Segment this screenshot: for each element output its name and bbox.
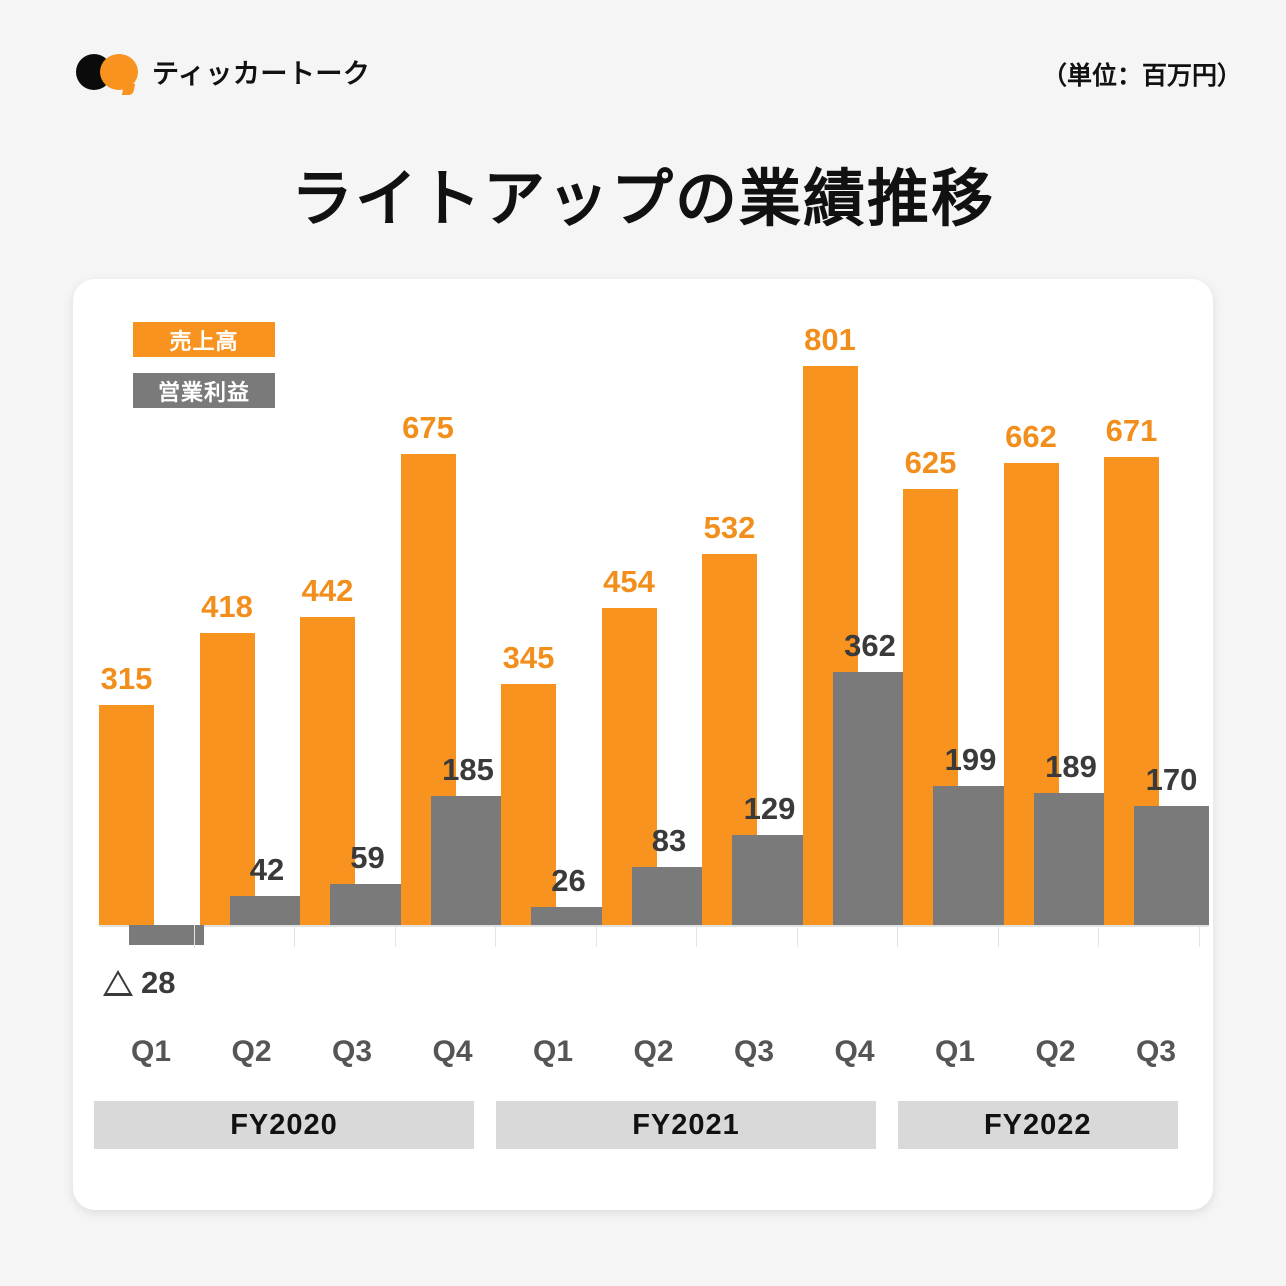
axis-tick — [395, 925, 396, 947]
bar-operating-profit[interactable] — [632, 867, 707, 925]
axis-tick — [194, 925, 195, 947]
page-title: ライトアップの業績推移 — [0, 148, 1286, 238]
value-label-revenue: 454 — [584, 564, 674, 600]
unit-note: （単位：百万円） — [1042, 56, 1242, 92]
quarter-label: Q4 — [403, 1035, 503, 1069]
quarter-label: Q1 — [503, 1035, 603, 1069]
bar-operating-profit[interactable] — [431, 796, 506, 925]
fiscal-year-bands: FY2020FY2021FY2022 — [85, 1101, 1213, 1149]
value-label-revenue: 675 — [383, 410, 473, 446]
axis-tick — [897, 925, 898, 947]
value-label-revenue: 345 — [484, 640, 574, 676]
zero-axis-line — [99, 925, 1209, 927]
axis-tick — [998, 925, 999, 947]
bar-operating-profit[interactable] — [330, 884, 405, 925]
fiscal-year-band: FY2022 — [898, 1101, 1178, 1149]
value-label-revenue: 625 — [886, 445, 976, 481]
logo-orange-speech-bubble-icon — [100, 54, 138, 90]
value-label-operating-profit: 59 — [323, 840, 413, 876]
value-label-revenue: 671 — [1087, 413, 1177, 449]
value-label-operating-profit: 42 — [222, 852, 312, 888]
value-label-operating-profit: 129 — [725, 791, 815, 827]
value-label-revenue: 801 — [785, 322, 875, 358]
brand-name: ティッカートーク — [152, 52, 370, 91]
ticker-talk-logo-icon — [76, 54, 138, 90]
fiscal-year-band: FY2020 — [94, 1101, 474, 1149]
quarter-axis-labels: Q1Q2Q3Q4Q1Q2Q3Q4Q1Q2Q3 — [85, 1035, 1213, 1081]
quarter-label: Q2 — [1006, 1035, 1106, 1069]
quarter-label: Q2 — [604, 1035, 704, 1069]
axis-tick — [1098, 925, 1099, 947]
quarter-label: Q1 — [905, 1035, 1005, 1069]
bar-operating-profit[interactable] — [230, 896, 305, 925]
bar-revenue[interactable] — [99, 705, 154, 925]
bar-operating-profit[interactable] — [933, 786, 1008, 925]
axis-tick — [696, 925, 697, 947]
page-header: ティッカートーク （単位：百万円） — [0, 0, 1286, 140]
bar-operating-profit[interactable] — [1034, 793, 1109, 925]
axis-tick — [797, 925, 798, 947]
quarter-label: Q3 — [704, 1035, 804, 1069]
value-label-operating-profit: 26 — [524, 863, 614, 899]
value-label-revenue: 315 — [82, 661, 172, 697]
negative-value-note: 28 — [103, 965, 175, 1001]
quarter-label: Q1 — [101, 1035, 201, 1069]
fiscal-year-band: FY2021 — [496, 1101, 876, 1149]
value-label-revenue: 532 — [685, 510, 775, 546]
chart-card: 売上高 営業利益 3154184244259675185345264548353… — [73, 279, 1213, 1210]
bar-revenue[interactable] — [300, 617, 355, 925]
quarter-label: Q2 — [202, 1035, 302, 1069]
bar-operating-profit[interactable] — [833, 672, 908, 925]
quarter-label: Q4 — [805, 1035, 905, 1069]
quarter-label: Q3 — [1106, 1035, 1206, 1069]
value-label-operating-profit: 199 — [926, 742, 1016, 778]
value-label-operating-profit: 170 — [1127, 762, 1217, 798]
value-label-operating-profit: 185 — [423, 752, 513, 788]
axis-tick — [495, 925, 496, 947]
value-label-revenue: 418 — [182, 589, 272, 625]
brand-logo: ティッカートーク — [76, 52, 370, 91]
axis-tick — [596, 925, 597, 947]
axis-tick — [1199, 925, 1200, 947]
negative-value-text: 28 — [141, 965, 175, 1001]
axis-tick — [294, 925, 295, 947]
bar-operating-profit[interactable] — [1134, 806, 1209, 925]
value-label-revenue: 442 — [283, 573, 373, 609]
bar-operating-profit[interactable] — [531, 907, 606, 925]
triangle-down-icon — [103, 970, 133, 996]
quarter-label: Q3 — [302, 1035, 402, 1069]
value-label-operating-profit: 83 — [624, 823, 714, 859]
value-label-revenue: 662 — [986, 419, 1076, 455]
bar-chart-plot: 3154184244259675185345264548353212980136… — [85, 279, 1213, 929]
value-label-operating-profit: 362 — [825, 628, 915, 664]
value-label-operating-profit: 189 — [1026, 749, 1116, 785]
bar-operating-profit[interactable] — [732, 835, 807, 925]
